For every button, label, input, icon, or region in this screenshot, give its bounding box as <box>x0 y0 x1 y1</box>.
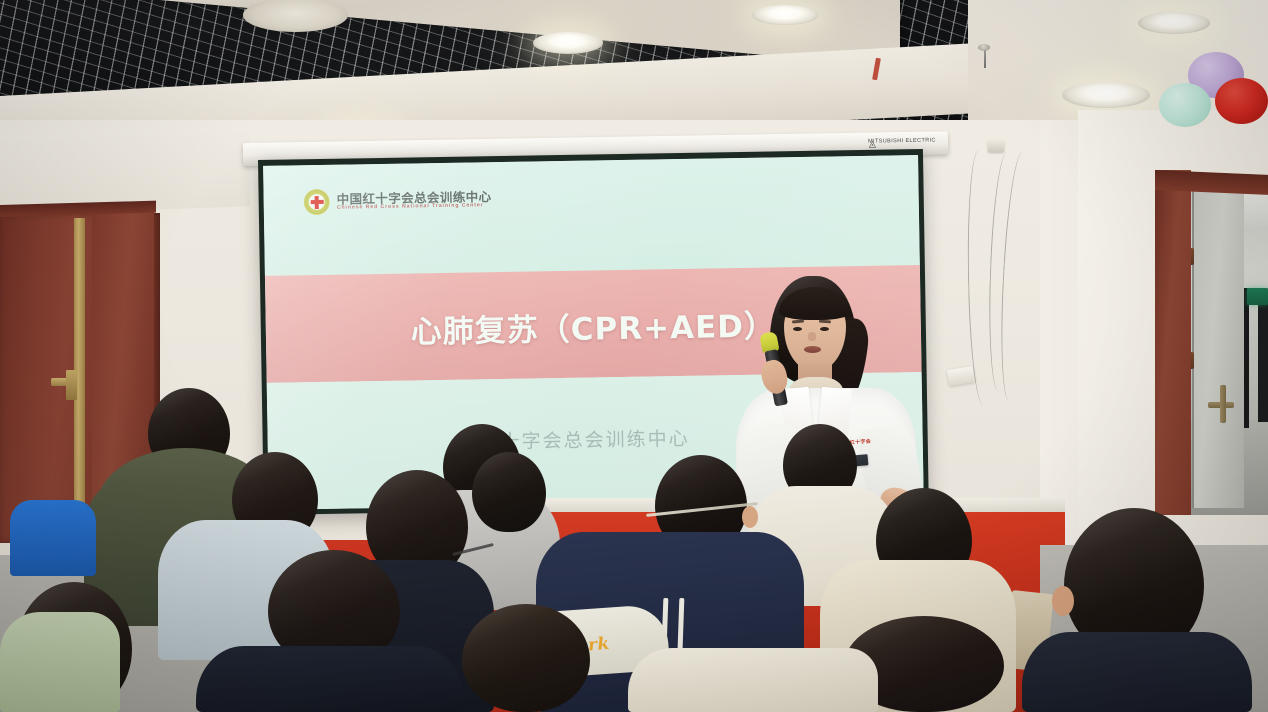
ceiling-cable-outlet <box>988 140 1004 152</box>
presenter-eye <box>820 327 829 331</box>
right-door-frame <box>1155 170 1191 515</box>
balloon-mint <box>1159 83 1211 127</box>
attendee-dark-navy <box>1022 632 1252 712</box>
balloon-red <box>1215 78 1268 124</box>
attendee-blue-shirt <box>10 500 96 576</box>
slide-logo-text: 中国红十字会总会训练中心 Chinese Red Cross National … <box>337 190 492 211</box>
presenter-mouth <box>804 346 821 353</box>
right-open-door-leaf[interactable] <box>1192 188 1244 508</box>
projector-brand-label: MITSUBISHI ELECTRIC <box>868 138 936 145</box>
ceiling-downlight-icon <box>1062 82 1150 108</box>
red-cross-icon <box>310 195 323 208</box>
ceiling-downlight-icon <box>1138 12 1210 34</box>
attendee-black-coat <box>196 646 464 712</box>
presenter-nose <box>808 332 816 341</box>
door-lockplate-icon <box>66 370 77 400</box>
red-cross-emblem-icon <box>303 189 329 215</box>
ceiling-hanger-rod <box>984 50 986 68</box>
corridor-doorway-dark <box>1258 292 1268 422</box>
slide-logo-english: Chinese Red Cross National Training Cent… <box>337 203 492 211</box>
photo-scene: ◬ MITSUBISHI ELECTRIC 中国红十字会总会训练中心 Chine… <box>0 0 1268 712</box>
attendee-ear <box>1052 586 1074 616</box>
ceiling-downlight-icon <box>752 5 818 25</box>
presenter-eye <box>793 327 802 331</box>
slide-logo: 中国红十字会总会训练中心 Chinese Red Cross National … <box>303 186 491 215</box>
exit-sign-icon <box>1247 288 1268 305</box>
right-door-handle-bar-icon[interactable] <box>1220 385 1226 423</box>
slide-band-top <box>263 155 920 276</box>
ceiling-downlight-icon <box>533 32 603 54</box>
attendee-ear <box>742 506 758 528</box>
attendee-head <box>472 452 546 532</box>
attendee-head <box>462 604 590 712</box>
attendee-mint-top <box>0 612 120 712</box>
attendee-white-puffer <box>628 648 878 712</box>
